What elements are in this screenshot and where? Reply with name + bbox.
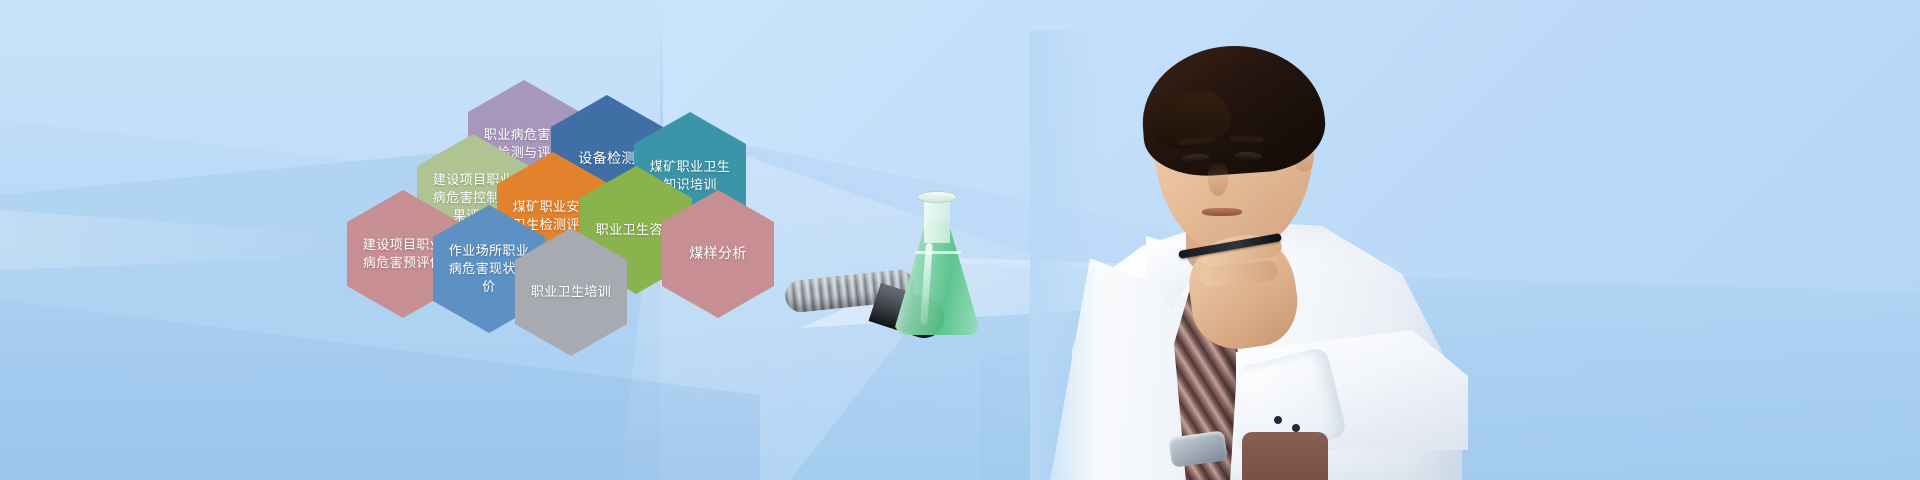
photo-soft-edge-blend xyxy=(1030,30,1100,480)
flask-rim xyxy=(917,191,957,203)
flask-neck xyxy=(924,197,950,243)
conical-flask-prop xyxy=(895,185,979,335)
businessman-figure xyxy=(1050,30,1480,480)
chair-back xyxy=(1242,432,1328,480)
photo-composition xyxy=(800,0,1920,480)
mouth xyxy=(1202,208,1242,216)
cuff-button-upper xyxy=(1274,416,1282,424)
flask-liquid-surface xyxy=(915,251,961,254)
nose xyxy=(1208,162,1228,196)
hexagon-label: 职业卫生培训 xyxy=(528,283,614,301)
cuff-button-lower xyxy=(1292,424,1300,432)
occupational-health-banner: 职业病危害因素检测与评价设备检测煤矿职业卫生知识培训建设项目职业病危害控制效果评… xyxy=(0,0,1920,480)
hexagon-label: 煤样分析 xyxy=(675,244,761,263)
